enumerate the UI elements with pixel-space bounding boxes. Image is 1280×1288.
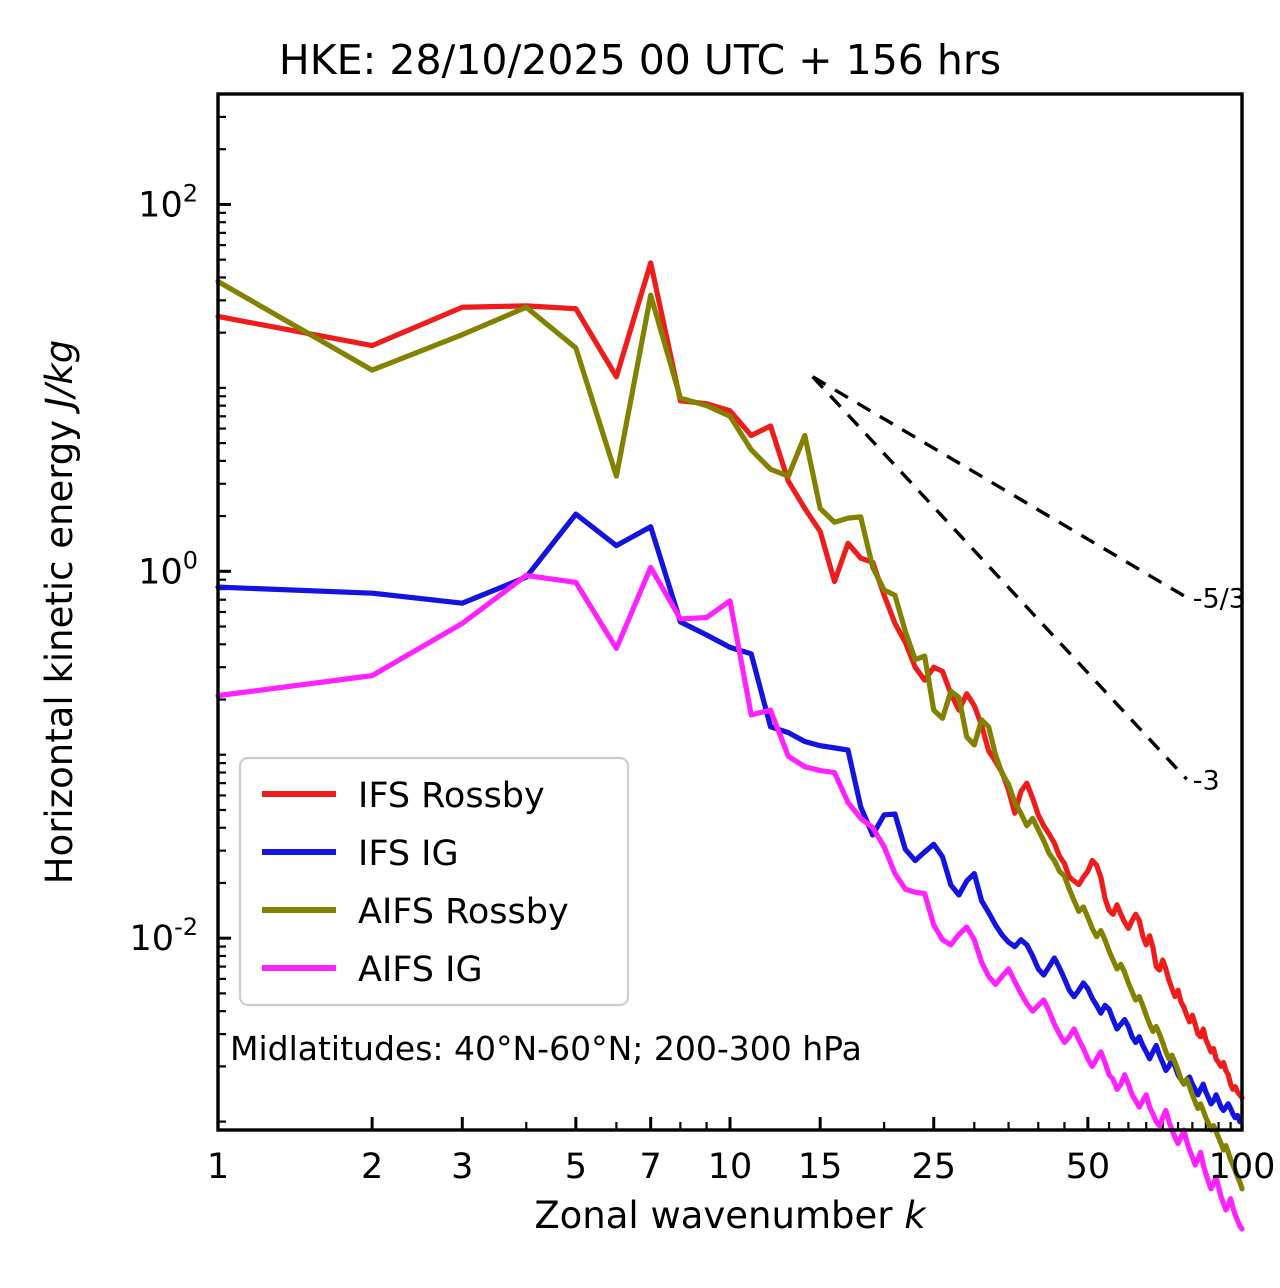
x-tick-label-3: 3 (451, 1147, 473, 1187)
reference-line-label--5-3: -5/3 (1193, 583, 1246, 614)
y-tick-label--2: 10-2 (130, 913, 198, 959)
x-tick-label-50: 50 (1066, 1147, 1111, 1187)
y-tick-label-2: 102 (138, 179, 198, 225)
legend-label-aifs-ig[interactable]: AIFS IG (358, 950, 483, 990)
legend-label-aifs-rossby[interactable]: AIFS Rossby (358, 892, 569, 932)
reference-line--3 (813, 377, 1187, 780)
x-tick-label-5: 5 (565, 1147, 587, 1187)
x-axis-label: Zonal wavenumber k (534, 1194, 927, 1237)
y-axis-label: Horizontal kinetic energy J/kg (38, 340, 81, 884)
legend-label-ifs-rossby[interactable]: IFS Rossby (358, 776, 545, 816)
x-tick-label-25: 25 (911, 1147, 956, 1187)
figure-container: HKE: 28/10/2025 00 UTC + 156 hrs -5/3-3 … (0, 0, 1280, 1288)
y-tick-label-0: 100 (138, 546, 198, 592)
x-tick-label-1: 1 (207, 1147, 229, 1187)
region-annotation: Midlatitudes: 40°N-60°N; 200-300 hPa (230, 1029, 862, 1068)
annotation-group: Midlatitudes: 40°N-60°N; 200-300 hPa (230, 1029, 862, 1068)
x-tick-label-10: 10 (708, 1147, 753, 1187)
x-tick-label-15: 15 (798, 1147, 843, 1187)
chart-svg: -5/3-3 123571015255010010210010-2 Midlat… (0, 0, 1280, 1288)
reference-lines-group: -5/3-3 (813, 377, 1246, 797)
x-tick-label-100: 100 (1209, 1147, 1276, 1187)
legend-label-ifs-ig[interactable]: IFS IG (358, 834, 459, 874)
x-tick-label-7: 7 (640, 1147, 662, 1187)
reference-line--5-3 (813, 377, 1187, 598)
series-group (218, 263, 1242, 1229)
reference-line-label--3: -3 (1193, 765, 1220, 796)
x-tick-label-2: 2 (361, 1147, 383, 1187)
chart-legend[interactable]: IFS RossbyIFS IGAIFS RossbyAIFS IG (240, 758, 628, 1005)
